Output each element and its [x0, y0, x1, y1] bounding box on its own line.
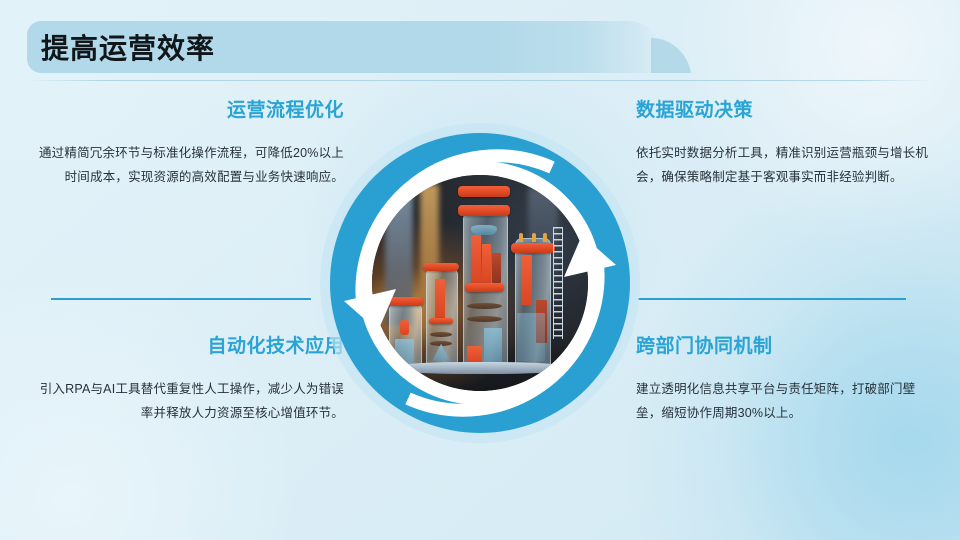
content-block-top-right: 数据驱动决策 依托实时数据分析工具，精准识别运营瓶颈与增长机会，确保策略制定基于… — [636, 100, 936, 190]
divider-right — [638, 298, 906, 300]
content-block-bottom-left: 自动化技术应用 引入RPA与AI工具替代重复性人工操作，减少人为错误率并释放人力… — [30, 336, 344, 426]
title-banner: 提高运营效率 — [27, 21, 659, 73]
block-body-operation-process-optimization: 通过精简冗余环节与标准化操作流程，可降低20%以上时间成本，实现资源的高效配置与… — [30, 141, 344, 190]
block-body-cross-department-collaboration: 建立透明化信息共享平台与责任矩阵，打破部门壁垒，缩短协作周期30%以上。 — [636, 377, 936, 426]
content-block-bottom-right: 跨部门协同机制 建立透明化信息共享平台与责任矩阵，打破部门壁垒，缩短协作周期30… — [636, 336, 936, 426]
slide-canvas: 提高运营效率 运营流程优化 通过精简冗余环节与标准化操作流程，可降低20%以上时… — [0, 0, 960, 540]
header-divider — [30, 80, 930, 81]
content-block-top-left: 运营流程优化 通过精简冗余环节与标准化操作流程，可降低20%以上时间成本，实现资… — [30, 100, 344, 190]
block-title-automation-technology: 自动化技术应用 — [30, 336, 344, 359]
block-title-data-driven-decision: 数据驱动决策 — [636, 100, 936, 123]
divider-left — [51, 298, 311, 300]
page-title: 提高运营效率 — [41, 27, 215, 67]
block-body-automation-technology: 引入RPA与AI工具替代重复性人工操作，减少人为错误率并释放人力资源至核心增值环… — [30, 377, 344, 426]
block-title-operation-process-optimization: 运营流程优化 — [30, 100, 344, 123]
center-graphic — [300, 103, 660, 463]
cycle-arrows-icon — [300, 103, 660, 463]
block-title-cross-department-collaboration: 跨部门协同机制 — [636, 336, 936, 359]
block-body-data-driven-decision: 依托实时数据分析工具，精准识别运营瓶颈与增长机会，确保策略制定基于客观事实而非经… — [636, 141, 936, 190]
